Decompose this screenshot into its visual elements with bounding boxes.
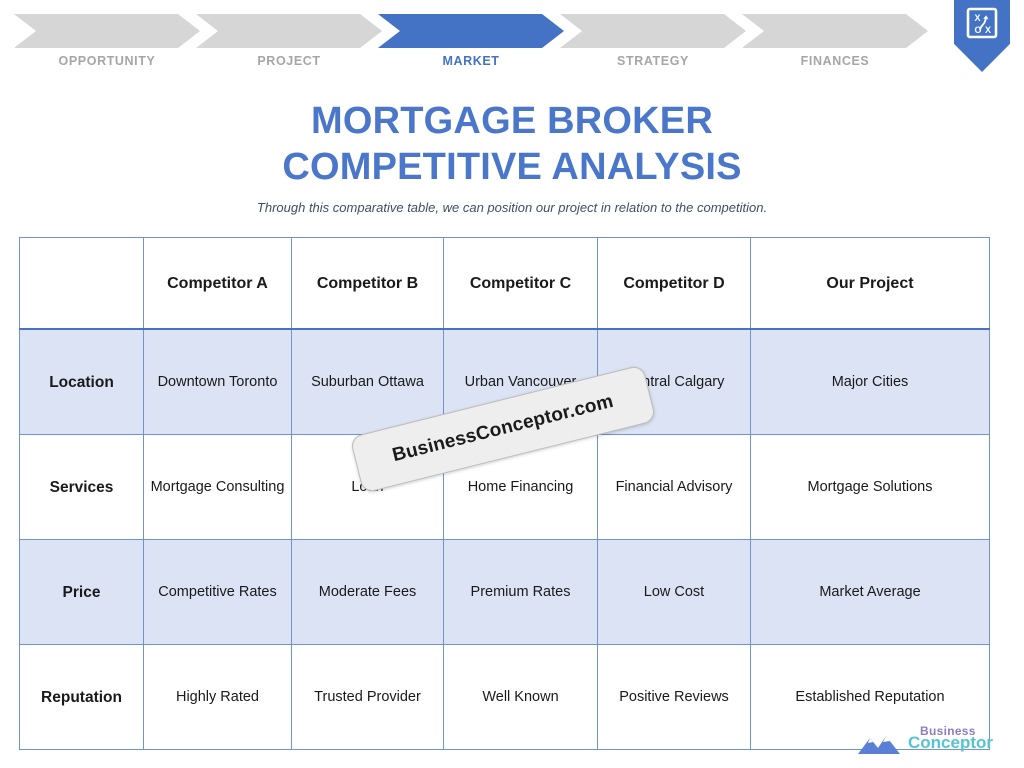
stepper-step-label: STRATEGY [560, 54, 746, 68]
page-title: MORTGAGE BROKER COMPETITIVE ANALYSIS [0, 98, 1024, 190]
strategy-board-glyph: X O X [965, 6, 999, 40]
row-header-price: Price [20, 540, 144, 645]
table-cell: Well Known [444, 645, 598, 750]
business-conceptor-logo: Business Conceptor [856, 724, 1008, 758]
chevron-shape [560, 14, 746, 48]
chevron-shape [378, 14, 564, 48]
competitive-analysis-table-wrapper: Competitor A Competitor B Competitor C C… [19, 237, 989, 750]
table-cell: Financial Advisory [598, 435, 751, 540]
table-cell: Downtown Toronto [144, 329, 292, 435]
page-title-line-2: COMPETITIVE ANALYSIS [0, 144, 1024, 190]
table-row: Price Competitive Rates Moderate Fees Pr… [20, 540, 990, 645]
table-cell: Moderate Fees [292, 540, 444, 645]
stepper-step-project[interactable]: PROJECT [196, 14, 382, 48]
table-cell: Trusted Provider [292, 645, 444, 750]
logo-conceptor-text: Conceptor [908, 736, 993, 749]
table-cell: Positive Reviews [598, 645, 751, 750]
chevron-shape [14, 14, 200, 48]
stepper-step-market[interactable]: MARKET [378, 14, 564, 48]
mountain-peaks-icon [856, 730, 916, 758]
row-header-location: Location [20, 329, 144, 435]
table-row: Reputation Highly Rated Trusted Provider… [20, 645, 990, 750]
table-cell: Premium Rates [444, 540, 598, 645]
stepper-step-label: FINANCES [742, 54, 928, 68]
table-corner-cell [20, 238, 144, 330]
stepper-step-label: OPPORTUNITY [14, 54, 200, 68]
stepper-step-label: MARKET [378, 54, 564, 68]
column-header-competitor-b: Competitor B [292, 238, 444, 330]
page-title-line-1: MORTGAGE BROKER [0, 98, 1024, 144]
column-header-competitor-a: Competitor A [144, 238, 292, 330]
column-header-competitor-c: Competitor C [444, 238, 598, 330]
column-header-our-project: Our Project [751, 238, 990, 330]
table-cell: Mortgage Solutions [751, 435, 990, 540]
stepper-step-strategy[interactable]: STRATEGY [560, 14, 746, 48]
column-header-competitor-d: Competitor D [598, 238, 751, 330]
competitive-analysis-table: Competitor A Competitor B Competitor C C… [19, 237, 990, 750]
stepper-step-finances[interactable]: FINANCES [742, 14, 928, 48]
table-header: Competitor A Competitor B Competitor C C… [20, 238, 990, 330]
table-header-row: Competitor A Competitor B Competitor C C… [20, 238, 990, 330]
svg-text:X: X [975, 13, 981, 23]
table-cell: Low Cost [598, 540, 751, 645]
svg-text:X: X [985, 25, 991, 35]
chevron-shape [742, 14, 928, 48]
strategy-board-icon: X O X [954, 0, 1010, 72]
chevron-shape [196, 14, 382, 48]
row-header-services: Services [20, 435, 144, 540]
page-subtitle: Through this comparative table, we can p… [0, 200, 1024, 215]
table-cell: Highly Rated [144, 645, 292, 750]
table-cell: Mortgage Consulting [144, 435, 292, 540]
progress-stepper: OPPORTUNITY PROJECT MARKET STRATEGY FINA… [0, 0, 1024, 80]
stepper-step-opportunity[interactable]: OPPORTUNITY [14, 14, 200, 48]
stepper-step-label: PROJECT [196, 54, 382, 68]
table-body: Location Downtown Toronto Suburban Ottaw… [20, 329, 990, 750]
table-cell: Market Average [751, 540, 990, 645]
table-cell: Competitive Rates [144, 540, 292, 645]
row-header-reputation: Reputation [20, 645, 144, 750]
table-cell: Major Cities [751, 329, 990, 435]
logo-wordmark: Business Conceptor [908, 725, 993, 749]
